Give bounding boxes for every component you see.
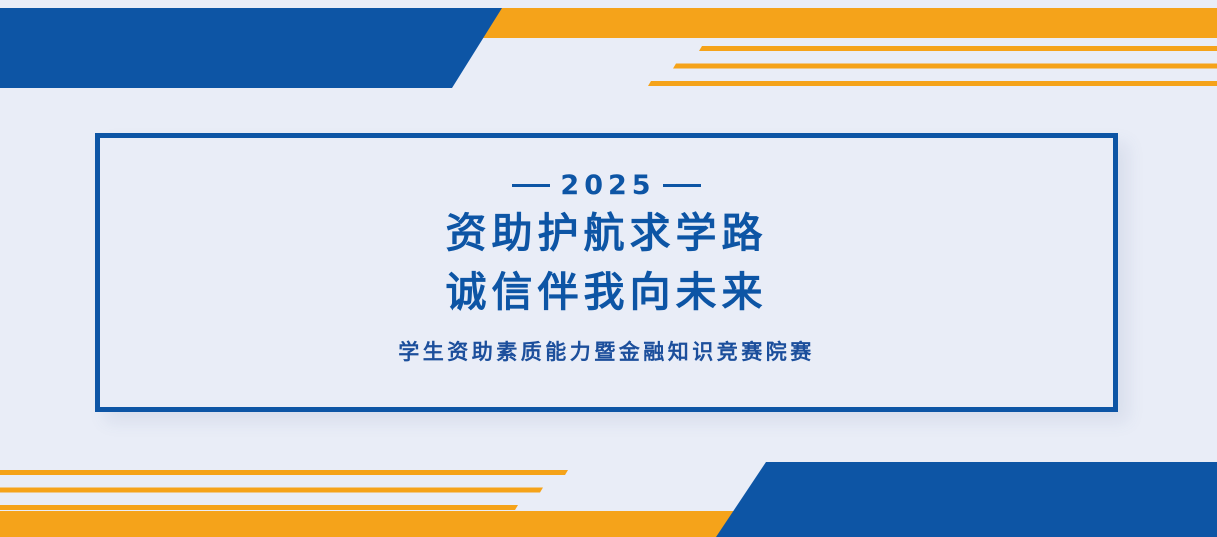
year-dash-right-icon (663, 184, 701, 187)
bottom-decoration-group (0, 462, 1217, 537)
year-row: 2025 (512, 172, 700, 199)
bottom-stripe-2 (0, 488, 543, 493)
content-frame: 2025 资助护航求学路 诚信伴我向未来 学生资助素质能力暨金融知识竞赛院赛 (95, 133, 1118, 412)
title-line-2: 诚信伴我向未来 (446, 264, 768, 321)
title-line-1: 资助护航求学路 (446, 205, 768, 262)
year-dash-left-icon (512, 184, 550, 187)
bottom-blue-parallelogram (716, 462, 1217, 537)
top-orange-parallelogram (471, 8, 1217, 38)
bottom-stripe-group (0, 470, 568, 537)
top-stripe-3 (699, 46, 1217, 51)
bottom-orange-parallelogram (0, 511, 746, 537)
top-stripe-1 (749, 10, 1217, 15)
bottom-stripe-4 (0, 523, 492, 528)
top-stripe-4 (673, 64, 1217, 69)
top-decoration-group (0, 8, 1217, 88)
top-stripe-5 (648, 81, 1217, 86)
top-stripe-group (648, 10, 1217, 86)
top-stripe-2 (724, 29, 1217, 34)
bottom-stripe-5 (0, 534, 470, 537)
bottom-stripe-3 (0, 505, 518, 510)
bottom-stripe-1 (0, 470, 568, 475)
poster-canvas: 2025 资助护航求学路 诚信伴我向未来 学生资助素质能力暨金融知识竞赛院赛 (0, 0, 1217, 537)
year-label: 2025 (557, 172, 655, 199)
subtitle: 学生资助素质能力暨金融知识竞赛院赛 (398, 336, 815, 366)
top-blue-parallelogram (0, 8, 502, 88)
